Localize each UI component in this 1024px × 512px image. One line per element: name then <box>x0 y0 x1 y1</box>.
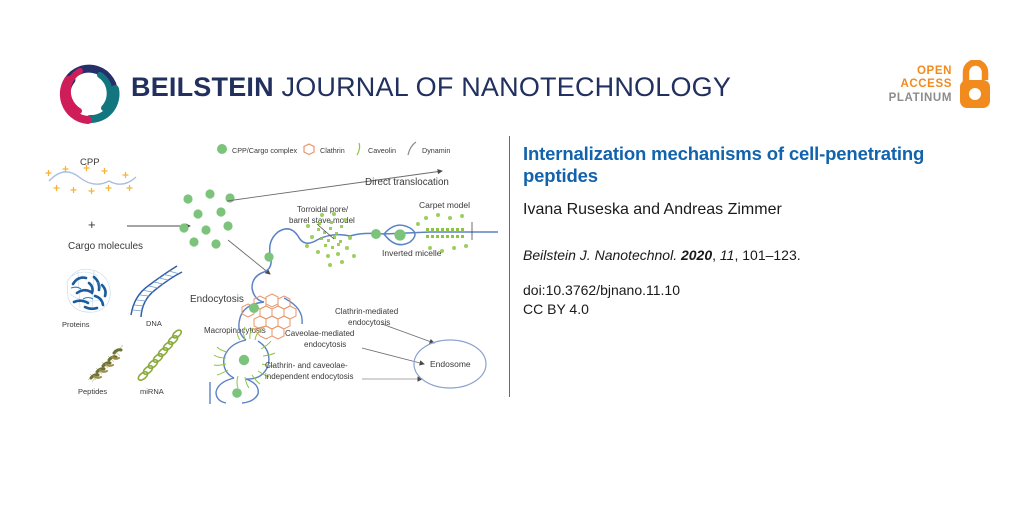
figure-label-inverted-micelle: Inverted micelle <box>382 248 442 258</box>
figure-label-plus: + <box>88 217 96 232</box>
complex-in-inverted-micelle <box>394 229 405 240</box>
oa-line-platinum: PLATINUM <box>889 92 952 106</box>
journal-wordmark: BEILSTEIN JOURNAL OF NANOTECHNOLOGY <box>131 72 731 102</box>
dna-helix-illustration <box>131 266 182 317</box>
cpp-wave-line <box>49 172 136 184</box>
legend-label-caveolin: Caveolin <box>368 146 396 155</box>
positive-charge-marks <box>46 166 132 194</box>
mirna-illustration <box>137 329 183 382</box>
figure-label-independent-line1: Clathrin- and caveolae- <box>265 361 348 370</box>
complex-on-membrane-1 <box>371 229 381 239</box>
legend-marker-caveolin <box>357 143 360 155</box>
citation-year: 2020 <box>681 247 712 263</box>
oa-line-open: OPEN <box>889 65 952 79</box>
cpp-illustration: CPP <box>46 157 136 194</box>
oa-line-access: ACCESS <box>889 78 952 92</box>
figure-label-dna: DNA <box>146 319 162 328</box>
complex-in-clathrin-pit <box>249 303 259 313</box>
citation-volume: 11 <box>720 247 735 263</box>
citation-journal: Beilstein J. Nanotechnol. <box>523 247 677 263</box>
open-access-platinum-badge: OPEN ACCESS PLATINUM <box>884 56 996 114</box>
complex-in-independent-pit <box>232 388 242 398</box>
figure-label-mirna: miRNA <box>140 387 164 396</box>
legend-marker-cpp-cargo-complex <box>217 144 227 154</box>
figure-label-cargo-molecules: Cargo molecules <box>68 241 143 252</box>
peptide-illustration <box>88 345 123 382</box>
article-authors: Ivana Ruseska and Andreas Zimmer <box>523 200 993 220</box>
figure-label-caveolae-mediated-line1: Caveolae-mediated <box>285 329 354 338</box>
figure-label-clathrin-mediated-line1: Clathrin-mediated <box>335 307 398 316</box>
figure-label-endocytosis: Endocytosis <box>190 294 244 305</box>
page-header: BEILSTEIN JOURNAL OF NANOTECHNOLOGY OPEN… <box>0 0 1024 132</box>
figure-label-peptides: Peptides <box>78 387 107 396</box>
figure-label-endosome: Endosome <box>430 359 471 369</box>
article-doi-block: doi:10.3762/bjnano.11.10 CC BY 4.0 <box>523 281 993 319</box>
wordmark-journal-of-nanotechnology: JOURNAL OF NANOTECHNOLOGY <box>274 72 731 102</box>
article-license[interactable]: CC BY 4.0 <box>523 300 993 319</box>
article-citation: Beilstein J. Nanotechnol. 2020, 11, 101–… <box>523 246 993 264</box>
figure-label-caveolae-mediated-line2: endocytosis <box>304 340 346 349</box>
cargo-molecules-group: Cargo molecules Proteins <box>62 241 183 396</box>
figure-label-cpp: CPP <box>80 157 100 168</box>
complex-in-macropinosome <box>264 252 273 261</box>
legend-marker-clathrin <box>304 144 314 155</box>
legend-label-clathrin: Clathrin <box>320 146 345 155</box>
arrow-to-endocytosis <box>228 240 270 274</box>
open-access-label-group: OPEN ACCESS PLATINUM <box>889 65 952 106</box>
wordmark-beilstein: BEILSTEIN <box>131 72 274 102</box>
figure-label-independent-line2: independent endocytosis <box>265 372 354 381</box>
complex-in-caveolae-pit <box>239 355 249 365</box>
figure-label-toroidal-pore-line1: Torroidal pore/ <box>297 205 349 214</box>
article-doi[interactable]: doi:10.3762/bjnano.11.10 <box>523 281 993 300</box>
open-padlock-icon <box>957 60 996 110</box>
legend-label-cpp-cargo-complex: CPP/Cargo complex <box>232 146 298 155</box>
legend-label-dynamin: Dynamin <box>422 146 450 155</box>
figure-label-clathrin-mediated-line2: endocytosis <box>348 318 390 327</box>
column-divider <box>509 136 510 397</box>
page-title: Internalization mechanisms of cell-penet… <box>523 143 993 187</box>
citation-pages: 101–123. <box>742 247 800 263</box>
figure-label-carpet-model: Carpet model <box>419 200 470 210</box>
article-info-panel: Internalization mechanisms of cell-penet… <box>523 143 993 319</box>
protein-structure-illustration <box>67 269 110 312</box>
cpp-cargo-complex-cloud <box>179 189 234 248</box>
legend-marker-dynamin <box>408 142 416 155</box>
cpp-internalization-mechanisms-diagram: CPP/Cargo complex Clathrin Caveolin Dyna… <box>32 136 498 404</box>
figure-label-proteins: Proteins <box>62 320 90 329</box>
figure-label-direct-translocation: Direct translocation <box>365 177 449 188</box>
beilstein-circle-logo <box>52 56 126 130</box>
carpet-model-grid <box>426 228 464 238</box>
arrow-clathrin-to-endosome <box>382 324 434 343</box>
figure-legend: CPP/Cargo complex Clathrin Caveolin Dyna… <box>217 142 450 155</box>
